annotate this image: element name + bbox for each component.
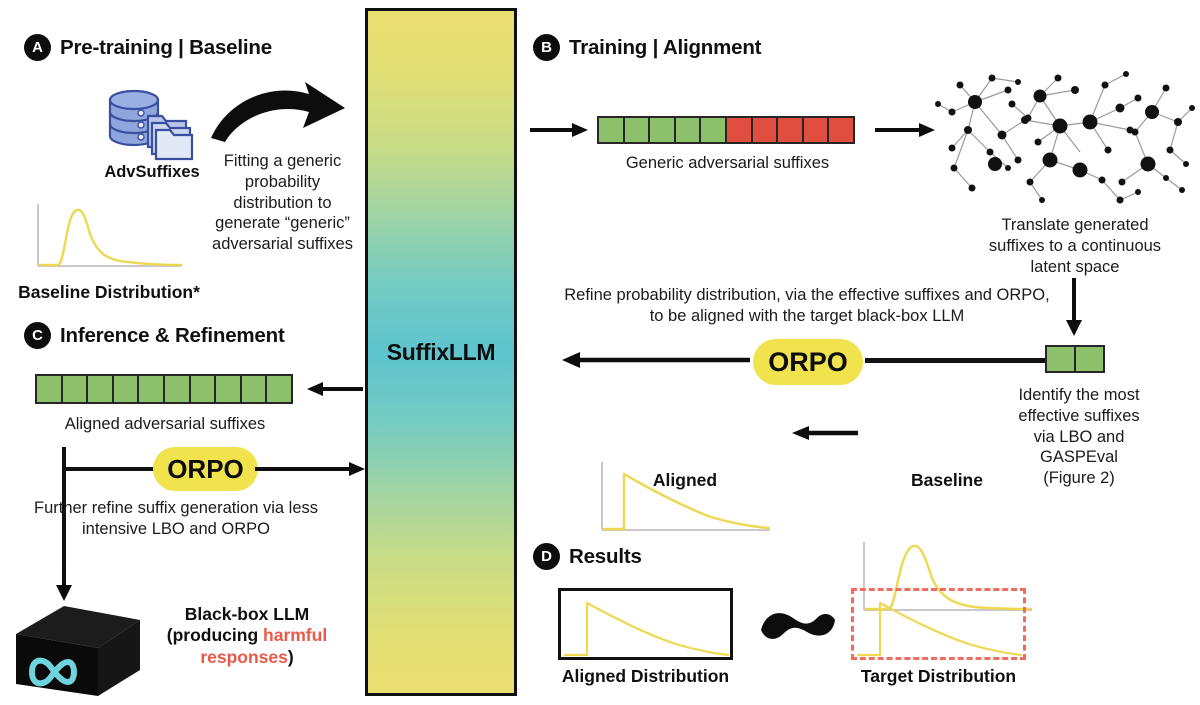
connector-effective-to-orpo bbox=[865, 358, 1045, 363]
suffix-token-cell bbox=[599, 118, 623, 142]
arrow-suffixllm-to-generic-suffixes bbox=[530, 120, 590, 145]
section-d-badge: D bbox=[533, 543, 560, 570]
suffixllm-label: SuffixLLM bbox=[387, 339, 495, 366]
blackbox-llm-label-prefix: (producing bbox=[167, 625, 263, 645]
suffix-token-cell bbox=[114, 376, 138, 402]
suffix-token-cell bbox=[1047, 347, 1074, 371]
aligned-distribution-chart-d bbox=[558, 588, 733, 660]
section-d-header: D Results bbox=[533, 543, 642, 570]
latent-space-network-icon bbox=[930, 60, 1195, 215]
advsuffixes-label: AdvSuffixes bbox=[96, 163, 208, 182]
arrow-baseline-to-aligned bbox=[790, 423, 858, 448]
diagram-canvas: SuffixLLM A Pre-training | Baseline Adv bbox=[0, 0, 1200, 704]
suffix-token-cell bbox=[1076, 347, 1103, 371]
baseline-distribution-caption-a: Baseline Distribution* bbox=[14, 282, 204, 303]
suffix-token-cell bbox=[778, 118, 802, 142]
arrow-suffixllm-to-aligned bbox=[305, 379, 363, 404]
section-c-description: Further refine suffix generation via les… bbox=[26, 498, 326, 540]
suffix-token-cell bbox=[676, 118, 700, 142]
connector-horizontal-c-left bbox=[62, 467, 162, 471]
blackbox-llm-label-line1: Black-box LLM bbox=[152, 604, 342, 625]
suffixllm-center-block: SuffixLLM bbox=[365, 8, 517, 696]
orpo-pill-b[interactable]: ORPO bbox=[753, 339, 863, 385]
aligned-distribution-caption-b: Aligned bbox=[600, 470, 770, 491]
suffix-token-cell bbox=[88, 376, 112, 402]
suffix-token-cell bbox=[804, 118, 828, 142]
advsuffixes-dataset-icon bbox=[104, 82, 200, 169]
section-d-title: Results bbox=[569, 545, 642, 569]
tilde-approx-icon bbox=[755, 596, 841, 655]
suffix-token-cell bbox=[727, 118, 751, 142]
target-distribution-caption-d: Target Distribution bbox=[841, 666, 1036, 687]
suffix-token-cell bbox=[165, 376, 189, 402]
blackbox-llm-label-suffix: ) bbox=[288, 647, 294, 667]
suffix-token-cell bbox=[650, 118, 674, 142]
section-c-badge: C bbox=[24, 322, 51, 349]
suffix-token-cell bbox=[753, 118, 777, 142]
generic-suffix-caption: Generic adversarial suffixes bbox=[610, 153, 845, 174]
suffix-token-cell bbox=[139, 376, 163, 402]
section-b-title: Training | Alignment bbox=[569, 36, 761, 60]
suffix-token-cell bbox=[267, 376, 291, 402]
baseline-distribution-caption-b: Baseline bbox=[862, 470, 1032, 491]
aligned-suffix-caption: Aligned adversarial suffixes bbox=[20, 414, 310, 435]
aligned-distribution-caption-d: Aligned Distribution bbox=[548, 666, 743, 687]
section-b-badge: B bbox=[533, 34, 560, 61]
suffix-token-cell bbox=[242, 376, 266, 402]
arrow-suffixes-to-latent-space bbox=[875, 120, 937, 145]
arrow-orpo-c-to-suffixllm bbox=[255, 459, 367, 484]
arrow-latent-to-effective bbox=[1063, 278, 1085, 343]
blackbox-llm-icon bbox=[6, 600, 156, 700]
blackbox-llm-label-line2: (producing harmful responses) bbox=[152, 625, 342, 669]
orpo-pill-c[interactable]: ORPO bbox=[153, 447, 258, 491]
orpo-pill-c-label: ORPO bbox=[167, 454, 244, 485]
target-distribution-chart-d bbox=[851, 588, 1026, 660]
section-a-title: Pre-training | Baseline bbox=[60, 36, 272, 60]
arrow-orpo-b-to-suffixllm bbox=[560, 349, 750, 376]
aligned-suffix-strip bbox=[35, 374, 293, 404]
suffix-token-cell bbox=[63, 376, 87, 402]
section-a-badge: A bbox=[24, 34, 51, 61]
section-b-refine-description: Refine probability distribution, via the… bbox=[562, 285, 1052, 327]
latent-space-caption: Translate generated suffixes to a contin… bbox=[985, 215, 1165, 277]
blackbox-llm-label: Black-box LLM (producing harmful respons… bbox=[152, 604, 342, 669]
suffix-token-cell bbox=[829, 118, 853, 142]
curved-arrow-right-icon bbox=[205, 76, 355, 155]
section-a-header: A Pre-training | Baseline bbox=[24, 34, 272, 61]
suffix-token-cell bbox=[191, 376, 215, 402]
generic-suffix-strip bbox=[597, 116, 855, 144]
section-c-header: C Inference & Refinement bbox=[24, 322, 285, 349]
orpo-pill-b-label: ORPO bbox=[768, 347, 848, 378]
suffix-token-cell bbox=[216, 376, 240, 402]
suffix-token-cell bbox=[625, 118, 649, 142]
suffix-token-cell bbox=[701, 118, 725, 142]
section-c-title: Inference & Refinement bbox=[60, 324, 285, 348]
section-b-header: B Training | Alignment bbox=[533, 34, 761, 61]
suffix-token-cell bbox=[37, 376, 61, 402]
effective-suffix-strip bbox=[1045, 345, 1105, 373]
